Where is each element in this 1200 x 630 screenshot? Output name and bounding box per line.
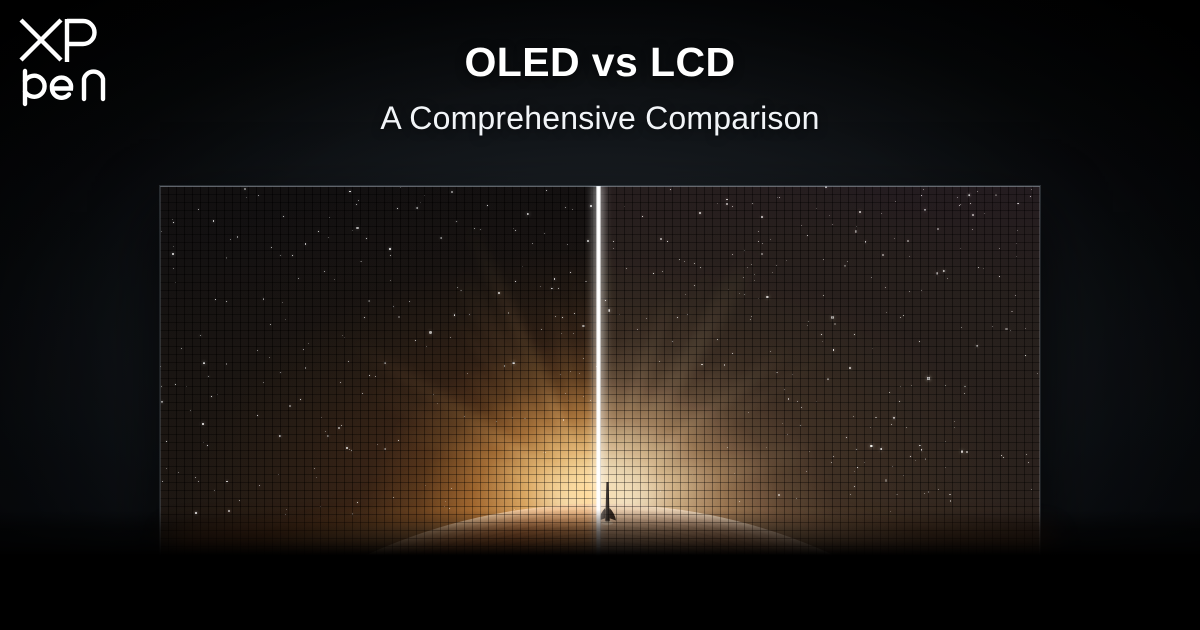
poster-canvas: OLED vs LCD A Comprehensive Comparison <box>0 0 1200 630</box>
page-title: OLED vs LCD <box>0 38 1200 86</box>
page-subtitle: A Comprehensive Comparison <box>0 100 1200 137</box>
foreground-floor <box>0 510 1200 630</box>
poster-headings: OLED vs LCD A Comprehensive Comparison <box>0 38 1200 137</box>
